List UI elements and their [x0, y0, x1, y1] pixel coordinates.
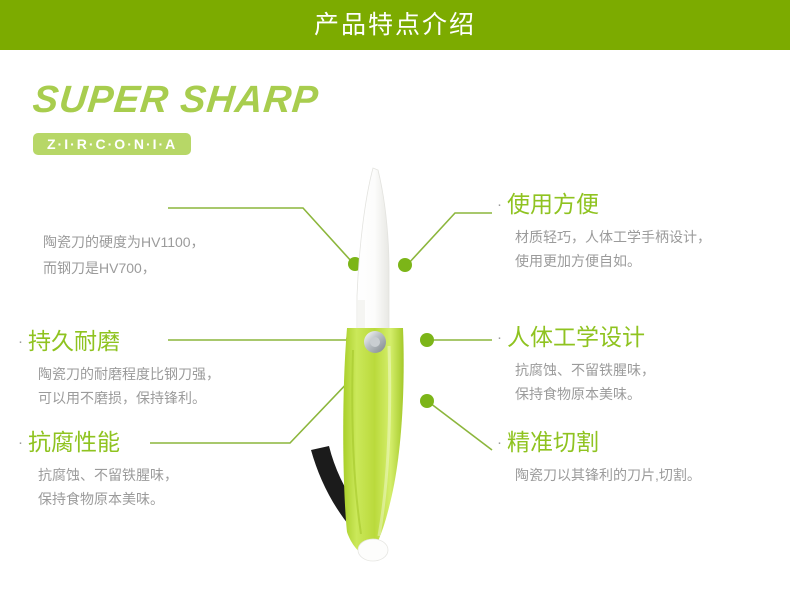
feature-heading-text: 精准切割 [507, 429, 599, 455]
feature-body-line1: 陶瓷刀的耐磨程度比钢刀强， [38, 362, 220, 386]
page-title: 产品特点介绍 [0, 0, 790, 50]
feature-heading-ergonomic-design: ·人体工学设计 [497, 323, 655, 352]
feature-body-ergonomic-design: 抗腐蚀、不留铁腥味， 保持食物原本美味。 [497, 358, 655, 406]
product-feature-infographic: 产品特点介绍 SUPER SHARP Z·I·R·C·O·N·I·A 陶瓷刀的硬… [0, 0, 790, 596]
feature-body-line1: 材质轻巧，人体工学手柄设计， [515, 225, 711, 249]
feature-heading-wear-resistance: ·持久耐磨 [18, 327, 220, 356]
feature-body-line1: 抗腐蚀、不留铁腥味， [515, 358, 655, 382]
feature-body-line2: 保持食物原本美味。 [515, 382, 655, 406]
feature-body-line1: 抗腐蚀、不留铁腥味， [38, 463, 178, 487]
feature-heading-text: 人体工学设计 [507, 324, 645, 350]
feature-heading-text: 持久耐磨 [28, 328, 120, 354]
ceramic-knife-illustration: LOCK&LOCK [285, 150, 475, 570]
feature-body-line1: 陶瓷刀以其锋利的刀片,切割。 [515, 463, 701, 487]
feature-body-line2: 使用更加方便自如。 [515, 249, 711, 273]
knife-tip-cap [358, 539, 388, 561]
feature-block-ergonomic-design: ·人体工学设计 抗腐蚀、不留铁腥味， 保持食物原本美味。 [497, 323, 655, 406]
feature-body-wear-resistance: 陶瓷刀的耐磨程度比钢刀强， 可以用不磨损，保持锋利。 [18, 362, 220, 410]
bullet-icon: · [497, 329, 502, 346]
hardness-note-line1: 陶瓷刀的硬度为HV1100， [43, 229, 205, 255]
bullet-icon: · [497, 434, 502, 451]
feature-body-corrosion-resistance: 抗腐蚀、不留铁腥味， 保持食物原本美味。 [18, 463, 178, 511]
bullet-icon: · [497, 196, 502, 213]
feature-heading-text: 抗腐性能 [28, 429, 120, 455]
feature-heading-precise-cutting: ·精准切割 [497, 428, 701, 457]
hardness-note: 陶瓷刀的硬度为HV1100， 而钢刀是HV700， [43, 229, 205, 281]
feature-body-precise-cutting: 陶瓷刀以其锋利的刀片,切割。 [497, 463, 701, 487]
bullet-icon: · [18, 333, 23, 350]
feature-body-line2: 可以用不磨损，保持锋利。 [38, 386, 220, 410]
brand-subtitle-pill: Z·I·R·C·O·N·I·A [33, 133, 191, 155]
feature-block-convenient-use: ·使用方便 材质轻巧，人体工学手柄设计， 使用更加方便自如。 [497, 190, 711, 273]
feature-block-wear-resistance: ·持久耐磨 陶瓷刀的耐磨程度比钢刀强， 可以用不磨损，保持锋利。 [18, 327, 220, 410]
bullet-icon: · [18, 434, 23, 451]
feature-body-convenient-use: 材质轻巧，人体工学手柄设计， 使用更加方便自如。 [497, 225, 711, 273]
feature-heading-corrosion-resistance: ·抗腐性能 [18, 428, 178, 457]
feature-body-line2: 保持食物原本美味。 [38, 487, 178, 511]
feature-block-precise-cutting: ·精准切割 陶瓷刀以其锋利的刀片,切割。 [497, 428, 701, 487]
brand-title: SUPER SHARP [31, 79, 321, 122]
feature-heading-convenient-use: ·使用方便 [497, 190, 711, 219]
feature-block-corrosion-resistance: ·抗腐性能 抗腐蚀、不留铁腥味， 保持食物原本美味。 [18, 428, 178, 511]
feature-heading-text: 使用方便 [507, 191, 599, 217]
hardness-note-line2: 而钢刀是HV700， [43, 255, 205, 281]
